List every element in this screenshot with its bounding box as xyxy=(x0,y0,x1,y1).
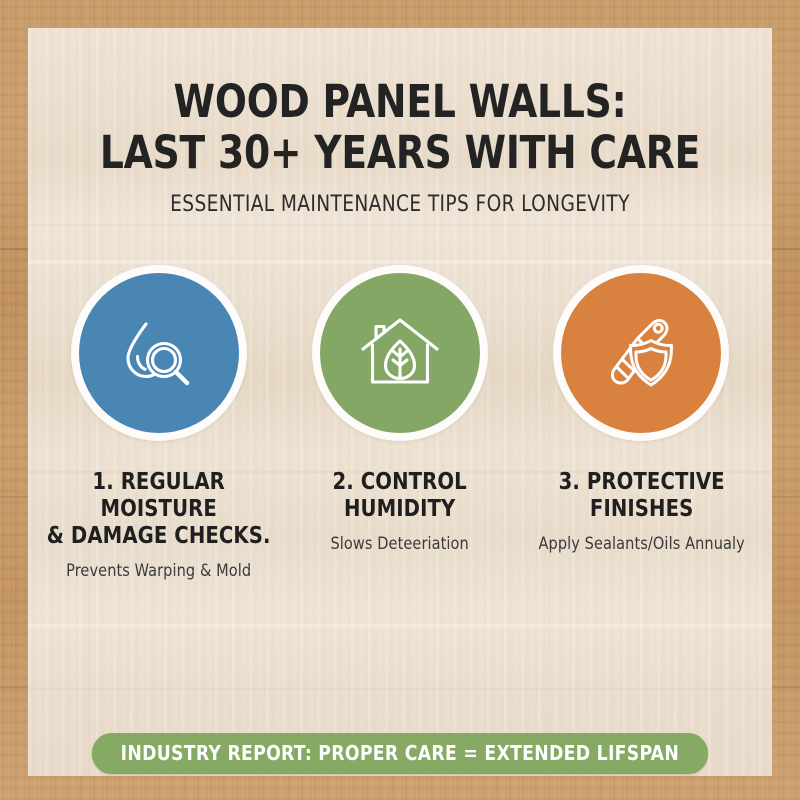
page-subtitle: ESSENTIAL MAINTENANCE TIPS FOR LONGEVITY xyxy=(50,192,749,217)
step-3-circle xyxy=(561,273,721,433)
step-1-subtitle: Prevents Warping & Mold xyxy=(44,561,273,581)
step-2-title: 2. CONTROL HUMIDITY xyxy=(285,469,514,523)
step-3-circle-ring xyxy=(553,265,729,441)
step-1-title: 1. REGULAR MOISTURE & DAMAGE CHECKS. xyxy=(44,469,273,550)
page-title: WOOD PANEL WALLS: LAST 30+ YEARS WITH CA… xyxy=(54,76,746,178)
water-droplet-magnifier-icon xyxy=(113,307,205,399)
industry-report-banner: INDUSTRY REPORT: PROPER CARE = EXTENDED … xyxy=(92,733,708,774)
step-card-3: 3. PROTECTIVE FINISHES Apply Sealants/Oi… xyxy=(521,265,762,554)
footer-area: INDUSTRY REPORT: PROPER CARE = EXTENDED … xyxy=(28,733,772,774)
step-1-circle-ring xyxy=(71,265,247,441)
title-line-1: WOOD PANEL WALLS: xyxy=(54,76,746,127)
house-leaf-icon xyxy=(354,307,446,399)
step-3-subtitle: Apply Sealants/Oils Annualy xyxy=(527,534,756,554)
inner-panel: WOOD PANEL WALLS: LAST 30+ YEARS WITH CA… xyxy=(28,28,772,776)
paintbrush-shield-icon xyxy=(595,307,687,399)
steps-row: 1. REGULAR MOISTURE & DAMAGE CHECKS. Pre… xyxy=(28,265,772,581)
title-line-2: LAST 30+ YEARS WITH CARE xyxy=(54,127,746,178)
step-1-circle xyxy=(79,273,239,433)
infographic-poster: WOOD PANEL WALLS: LAST 30+ YEARS WITH CA… xyxy=(0,0,800,800)
step-2-subtitle: Slows Deteeriation xyxy=(285,534,514,554)
step-card-2: 2. CONTROL HUMIDITY Slows Deteeriation xyxy=(279,265,520,554)
step-2-circle xyxy=(320,273,480,433)
poster-header: WOOD PANEL WALLS: LAST 30+ YEARS WITH CA… xyxy=(28,28,772,217)
step-3-title: 3. PROTECTIVE FINISHES xyxy=(527,469,756,523)
step-2-circle-ring xyxy=(312,265,488,441)
step-card-1: 1. REGULAR MOISTURE & DAMAGE CHECKS. Pre… xyxy=(38,265,279,581)
